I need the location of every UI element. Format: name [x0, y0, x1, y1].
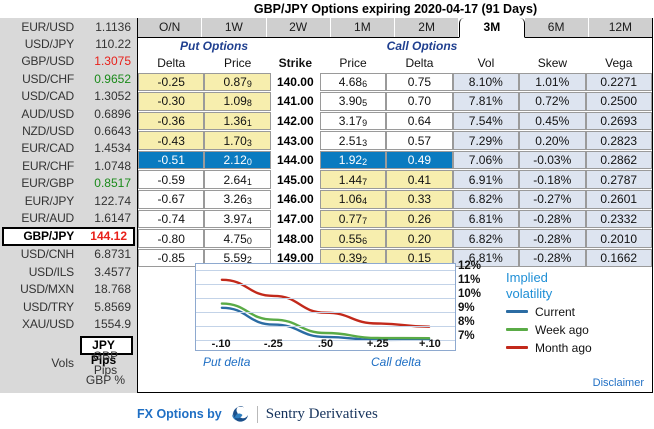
cell-put-delta[interactable]: -0.67: [138, 190, 204, 209]
cell-put-price[interactable]: 3.263: [204, 190, 270, 209]
y-tick-label: 8%: [458, 316, 475, 328]
disclaimer-link[interactable]: Disclaimer: [593, 377, 644, 389]
cell-put-price-subdigit: 3: [247, 196, 252, 206]
rate-value: 1.4534: [80, 141, 131, 155]
rate-value: 1.6147: [80, 211, 131, 225]
tab-1w[interactable]: 1W: [202, 18, 266, 37]
vols-label: Vols: [0, 356, 80, 370]
cell-strike[interactable]: 146.00: [271, 190, 320, 210]
rate-pair-label: USD/CNH: [0, 247, 80, 261]
cell-call-delta[interactable]: 0.75: [386, 73, 452, 92]
rate-pair-label: EUR/AUD: [0, 211, 80, 225]
rate-pair-label: EUR/CHF: [0, 159, 80, 173]
cell-call-price-value: 4.68: [339, 75, 362, 89]
gridline: [196, 270, 455, 271]
rate-pair-label: AUD/USD: [0, 107, 80, 121]
cell-put-delta[interactable]: -0.25: [138, 73, 204, 92]
cell-put-price-subdigit: 1: [247, 118, 252, 128]
cell-strike[interactable]: 148.00: [271, 229, 320, 249]
tab-on[interactable]: O/N: [138, 18, 202, 37]
rate-pair-label: EUR/JPY: [0, 194, 80, 208]
footer-branding: FX Options by Sentry Derivatives: [137, 401, 378, 427]
cell-strike[interactable]: 145.00: [271, 170, 320, 190]
rate-value: 1.3052: [80, 89, 131, 103]
rate-row[interactable]: USD/JPY110.22: [0, 35, 137, 52]
cell-call-price-value: 1.44: [339, 173, 362, 187]
vols-option-row[interactable]: VolsGBP Pips: [0, 354, 137, 371]
table-row[interactable]: -0.301.098141.003.9050.707.81%0.72%0.250…: [138, 92, 652, 112]
col-put-delta: Delta: [138, 56, 204, 70]
cell-strike[interactable]: 142.00: [271, 111, 320, 131]
y-axis-ticks: 12%11%10%9%8%7%: [458, 259, 492, 357]
cell-put-price-value: 1.70: [223, 134, 246, 148]
cell-strike[interactable]: 141.00: [271, 92, 320, 112]
cell-put-price-subdigit: 1: [247, 177, 252, 187]
rate-value: 0.9652: [80, 72, 131, 86]
rate-row[interactable]: USD/CHF0.9652: [0, 70, 137, 87]
legend-title: Implied volatility: [506, 270, 646, 302]
cell-put-delta[interactable]: -0.36: [138, 112, 204, 131]
sentry-swirl-logo-icon: [229, 404, 251, 424]
rate-value: 0.6643: [80, 124, 131, 138]
group-header-row: Put Options Call Options: [138, 38, 652, 54]
cell-put-price-value: 3.97: [223, 212, 246, 226]
cell-put-price-value: 0.87: [223, 75, 246, 89]
cell-put-price[interactable]: 3.974: [204, 210, 270, 229]
rate-pair-label: GBP/JPY: [4, 229, 80, 243]
rate-value: 0.6896: [80, 107, 131, 121]
legend-items: CurrentWeek agoMonth ago: [506, 303, 646, 356]
cell-vol[interactable]: 7.54%: [453, 112, 519, 131]
table-row[interactable]: -0.743.974147.000.7770.266.81%-0.28%0.23…: [138, 209, 652, 229]
rate-row[interactable]: EUR/USD1.1136: [0, 18, 137, 35]
rates-list: EUR/USD1.1136USD/JPY110.22GBP/USD1.3075U…: [0, 18, 137, 333]
gridline: [196, 312, 455, 313]
cell-put-delta[interactable]: -0.30: [138, 92, 204, 111]
rate-row[interactable]: EUR/AUD1.6147: [0, 209, 137, 226]
rate-row[interactable]: USD/CNH6.8731: [0, 246, 137, 263]
rate-value: 3.4577: [80, 265, 131, 279]
cell-put-price[interactable]: 0.879: [204, 73, 270, 92]
cell-call-price-subdigit: 9: [362, 118, 367, 128]
rate-row[interactable]: EUR/JPY122.74: [0, 192, 137, 209]
col-call-delta: Delta: [386, 56, 452, 70]
cell-vega[interactable]: 0.2787: [586, 170, 652, 189]
gridline: [196, 298, 455, 299]
rate-pair-label: USD/CAD: [0, 89, 80, 103]
cell-vol[interactable]: 6.82%: [453, 229, 519, 248]
cell-skew[interactable]: 0.20%: [519, 131, 585, 150]
cell-call-delta[interactable]: 0.33: [386, 190, 452, 209]
brand-name: Sentry Derivatives: [266, 406, 378, 423]
rate-pair-label: GBP/USD: [0, 54, 80, 68]
rate-row[interactable]: AUD/USD0.6896: [0, 105, 137, 122]
vols-option-row[interactable]: GBP %: [0, 371, 137, 388]
cell-call-price-subdigit: 2: [362, 157, 367, 167]
cell-put-price-subdigit: 8: [247, 98, 252, 108]
table-row[interactable]: -0.512.120144.001.9220.497.06%-0.03%0.28…: [138, 150, 652, 170]
rate-row[interactable]: USD/ILS3.4577: [0, 263, 137, 280]
cell-call-price[interactable]: 1.922: [320, 151, 386, 170]
rate-value: 1.0748: [80, 159, 131, 173]
cell-call-price[interactable]: 3.905: [320, 92, 386, 111]
tab-3m[interactable]: 3M: [459, 18, 524, 38]
cell-put-price-value: 2.64: [223, 173, 246, 187]
cell-vol[interactable]: 7.29%: [453, 131, 519, 150]
cell-vega[interactable]: 0.2010: [586, 229, 652, 248]
table-row[interactable]: -0.250.879140.004.6860.758.10%1.01%0.227…: [138, 72, 652, 92]
cell-call-price-value: 1.06: [339, 192, 362, 206]
x-tick-label: .50: [299, 338, 351, 352]
rate-pair-label: EUR/GBP: [0, 176, 80, 190]
cell-vol[interactable]: 7.06%: [453, 151, 519, 170]
rate-pair-label: USD/TRY: [0, 300, 80, 314]
cell-vega[interactable]: 0.2500: [586, 92, 652, 111]
cell-call-price-subdigit: 3: [362, 138, 367, 148]
cell-put-price[interactable]: 1.098: [204, 92, 270, 111]
rate-row[interactable]: USD/MXN18.768: [0, 280, 137, 297]
cell-call-price[interactable]: 1.064: [320, 190, 386, 209]
legend-swatch-icon: [506, 346, 528, 350]
cell-vol[interactable]: 6.91%: [453, 170, 519, 189]
logo-divider: [257, 406, 258, 423]
cell-call-price-subdigit: 4: [362, 196, 367, 206]
col-put-price: Price: [204, 56, 270, 70]
cell-vega[interactable]: 0.2823: [586, 131, 652, 150]
options-panel: GBP/JPY Options expiring 2020-04-17 (91 …: [137, 0, 654, 400]
series-line-week-ago: [222, 304, 429, 339]
table-row[interactable]: -0.592.641145.001.4470.416.91%-0.18%0.27…: [138, 170, 652, 190]
y-tick-label: 10%: [458, 288, 481, 300]
col-vol: Vol: [453, 56, 519, 70]
options-table: -0.250.879140.004.6860.758.10%1.01%0.227…: [138, 72, 652, 268]
y-tick-label: 12%: [458, 260, 481, 272]
x-tick-label: +.25: [352, 338, 404, 352]
tab-12m[interactable]: 12M: [589, 18, 652, 37]
tab-1m[interactable]: 1M: [331, 18, 395, 37]
column-header-row: Delta Price Strike Price Delta Vol Skew …: [138, 54, 652, 72]
rate-row[interactable]: XAU/USD1554.9: [0, 315, 137, 332]
footer-prefix: FX Options by: [137, 407, 222, 421]
cell-put-price-subdigit: 0: [247, 236, 252, 246]
cell-call-price[interactable]: 0.777: [320, 210, 386, 229]
rate-value: 18.768: [80, 282, 131, 296]
cell-vega[interactable]: 0.2601: [586, 190, 652, 209]
y-tick-label: 7%: [458, 330, 475, 342]
table-row[interactable]: -0.431.703143.002.5130.577.29%0.20%0.282…: [138, 131, 652, 151]
rate-pair-label: USD/ILS: [0, 265, 80, 279]
y-tick-label: 9%: [458, 302, 475, 314]
cell-put-price-subdigit: 3: [247, 138, 252, 148]
rate-value: 6.8731: [80, 247, 131, 261]
rate-value: 122.74: [80, 194, 131, 208]
rate-value: 1554.9: [80, 317, 131, 331]
vols-option-gbp[interactable]: GBP %: [80, 373, 137, 387]
rate-value: 1.3075: [80, 54, 131, 68]
x-axis-ticks: -.10-.25.50+.25+.10: [195, 338, 456, 352]
rate-row[interactable]: USD/TRY5.8569: [0, 298, 137, 315]
cell-put-delta[interactable]: -0.51: [138, 151, 204, 170]
volatility-smile-chart: -.10-.25.50+.25+.10 12%11%10%9%8%7% Put …: [138, 262, 652, 392]
chart-legend: Implied volatility CurrentWeek agoMonth …: [506, 270, 646, 356]
cell-put-delta[interactable]: -0.80: [138, 229, 204, 248]
cell-skew[interactable]: 0.45%: [519, 112, 585, 131]
cell-strike[interactable]: 143.00: [271, 131, 320, 151]
legend-item[interactable]: Current: [506, 303, 646, 320]
table-row[interactable]: -0.361.361142.003.1790.647.54%0.45%0.269…: [138, 111, 652, 131]
cell-call-price-subdigit: 7: [362, 177, 367, 187]
rate-row-selected[interactable]: GBP/JPY144.12: [2, 227, 135, 246]
cell-call-price[interactable]: 0.556: [320, 229, 386, 248]
rate-value: 5.8569: [80, 300, 131, 314]
cell-call-price[interactable]: 2.513: [320, 131, 386, 150]
rate-pair-label: XAU/USD: [0, 317, 80, 331]
call-delta-axis-label: Call delta: [371, 355, 421, 369]
cell-call-delta[interactable]: 0.64: [386, 112, 452, 131]
cell-call-delta[interactable]: 0.26: [386, 210, 452, 229]
rate-row[interactable]: NZD/USD0.6643: [0, 122, 137, 139]
rate-pair-label: USD/MXN: [0, 282, 80, 296]
cell-call-delta[interactable]: 0.49: [386, 151, 452, 170]
cell-put-delta[interactable]: -0.59: [138, 170, 204, 189]
table-row[interactable]: -0.673.263146.001.0640.336.82%-0.27%0.26…: [138, 190, 652, 210]
tab-6m[interactable]: 6M: [525, 18, 589, 37]
currency-sidebar: EUR/USD1.1136USD/JPY110.22GBP/USD1.3075U…: [0, 18, 137, 393]
legend-item[interactable]: Week ago: [506, 321, 646, 338]
cell-vega[interactable]: 0.2693: [586, 112, 652, 131]
page-title: GBP/JPY Options expiring 2020-04-17 (91 …: [137, 0, 654, 18]
rate-row[interactable]: USD/CAD1.3052: [0, 88, 137, 105]
legend-label: Month ago: [535, 341, 592, 355]
x-tick-label: +.10: [404, 338, 456, 352]
col-vega: Vega: [586, 56, 652, 70]
cell-call-delta[interactable]: 0.70: [386, 92, 452, 111]
rate-pair-label: USD/CHF: [0, 72, 80, 86]
cell-call-price-value: 3.90: [339, 94, 362, 108]
rate-value: 110.22: [80, 37, 131, 51]
rate-row[interactable]: EUR/CAD1.4534: [0, 140, 137, 157]
put-delta-axis-label: Put delta: [203, 355, 250, 369]
cell-put-price[interactable]: 1.703: [204, 131, 270, 150]
cell-skew[interactable]: 1.01%: [519, 73, 585, 92]
tenor-tabs: O/N1W2W1M2M3M6M12M: [138, 18, 652, 38]
cell-put-price[interactable]: 4.750: [204, 229, 270, 248]
legend-title-line2: volatility: [506, 286, 646, 302]
cell-call-price[interactable]: 1.447: [320, 170, 386, 189]
cell-put-price-subdigit: 4: [247, 216, 252, 226]
table-row[interactable]: -0.804.750148.000.5560.206.82%-0.28%0.20…: [138, 229, 652, 249]
legend-label: Current: [535, 305, 575, 319]
panel-body: O/N1W2W1M2M3M6M12M Put Options Call Opti…: [137, 18, 653, 393]
cell-call-delta[interactable]: 0.41: [386, 170, 452, 189]
gridline: [196, 284, 455, 285]
cell-vol[interactable]: 6.82%: [453, 190, 519, 209]
legend-label: Week ago: [535, 323, 589, 337]
rate-value: 144.12: [80, 229, 127, 243]
cell-strike[interactable]: 144.00: [271, 150, 320, 170]
rate-pair-label: EUR/CAD: [0, 141, 80, 155]
cell-put-price-subdigit: 0: [247, 157, 252, 167]
cell-put-price-value: 4.75: [223, 232, 246, 246]
cell-put-price[interactable]: 1.361: [204, 112, 270, 131]
cell-call-price-value: 0.77: [339, 212, 362, 226]
legend-title-line1: Implied: [506, 270, 646, 286]
rate-row[interactable]: EUR/CHF1.0748: [0, 157, 137, 174]
cell-call-price-value: 2.51: [339, 134, 362, 148]
x-tick-label: -.10: [195, 338, 247, 352]
cell-strike[interactable]: 140.00: [271, 72, 320, 92]
cell-put-delta[interactable]: -0.74: [138, 210, 204, 229]
cell-call-price-subdigit: 6: [362, 79, 367, 89]
rate-pair-label: EUR/USD: [0, 20, 80, 34]
cell-put-price-value: 1.09: [223, 94, 246, 108]
cell-call-price-subdigit: 7: [362, 216, 367, 226]
col-strike: Strike: [271, 56, 320, 70]
cell-vega[interactable]: 0.2862: [586, 151, 652, 170]
cell-call-price[interactable]: 4.686: [320, 73, 386, 92]
rate-value: 1.1136: [80, 20, 131, 34]
legend-item[interactable]: Month ago: [506, 339, 646, 356]
cell-put-delta[interactable]: -0.43: [138, 131, 204, 150]
gridline: [196, 326, 455, 327]
vols-selector: JPY PipsVolsGBP PipsGBP %: [0, 337, 137, 389]
cell-put-price[interactable]: 2.641: [204, 170, 270, 189]
rate-pair-label: NZD/USD: [0, 124, 80, 138]
cell-vega[interactable]: 0.2271: [586, 73, 652, 92]
col-call-price: Price: [320, 56, 386, 70]
rate-row[interactable]: GBP/USD1.3075: [0, 53, 137, 70]
cell-call-price[interactable]: 3.179: [320, 112, 386, 131]
cell-skew[interactable]: -0.28%: [519, 229, 585, 248]
cell-strike[interactable]: 147.00: [271, 209, 320, 229]
call-options-group-label: Call Options: [346, 39, 498, 53]
cell-call-price-value: 3.17: [339, 114, 362, 128]
rate-value: 0.8517: [80, 176, 131, 190]
cell-call-price-value: 1.92: [339, 153, 362, 167]
cell-put-price-value: 1.36: [223, 114, 246, 128]
cell-skew[interactable]: 0.72%: [519, 92, 585, 111]
x-tick-label: -.25: [247, 338, 299, 352]
col-skew: Skew: [519, 56, 585, 70]
rate-row[interactable]: EUR/GBP0.8517: [0, 175, 137, 192]
tab-2w[interactable]: 2W: [267, 18, 331, 37]
cell-vol[interactable]: 6.81%: [453, 210, 519, 229]
tab-2m[interactable]: 2M: [395, 18, 459, 37]
put-options-group-label: Put Options: [138, 39, 290, 53]
cell-put-price-value: 2.12: [223, 153, 246, 167]
cell-vol[interactable]: 7.81%: [453, 92, 519, 111]
y-tick-label: 11%: [458, 274, 480, 286]
cell-skew[interactable]: -0.18%: [519, 170, 585, 189]
cell-call-price-subdigit: 6: [362, 236, 367, 246]
legend-swatch-icon: [506, 328, 528, 332]
cell-call-delta[interactable]: 0.57: [386, 131, 452, 150]
cell-skew[interactable]: -0.03%: [519, 151, 585, 170]
cell-vol[interactable]: 8.10%: [453, 73, 519, 92]
cell-skew[interactable]: -0.28%: [519, 210, 585, 229]
cell-vega[interactable]: 0.2332: [586, 210, 652, 229]
cell-put-price-value: 3.26: [223, 192, 246, 206]
legend-swatch-icon: [506, 310, 528, 314]
cell-call-delta[interactable]: 0.20: [386, 229, 452, 248]
rate-pair-label: USD/JPY: [0, 37, 80, 51]
cell-put-price[interactable]: 2.120: [204, 151, 270, 170]
cell-skew[interactable]: -0.27%: [519, 190, 585, 209]
cell-put-price-subdigit: 9: [247, 79, 252, 89]
cell-call-price-subdigit: 5: [362, 98, 367, 108]
cell-call-price-value: 0.55: [339, 232, 362, 246]
